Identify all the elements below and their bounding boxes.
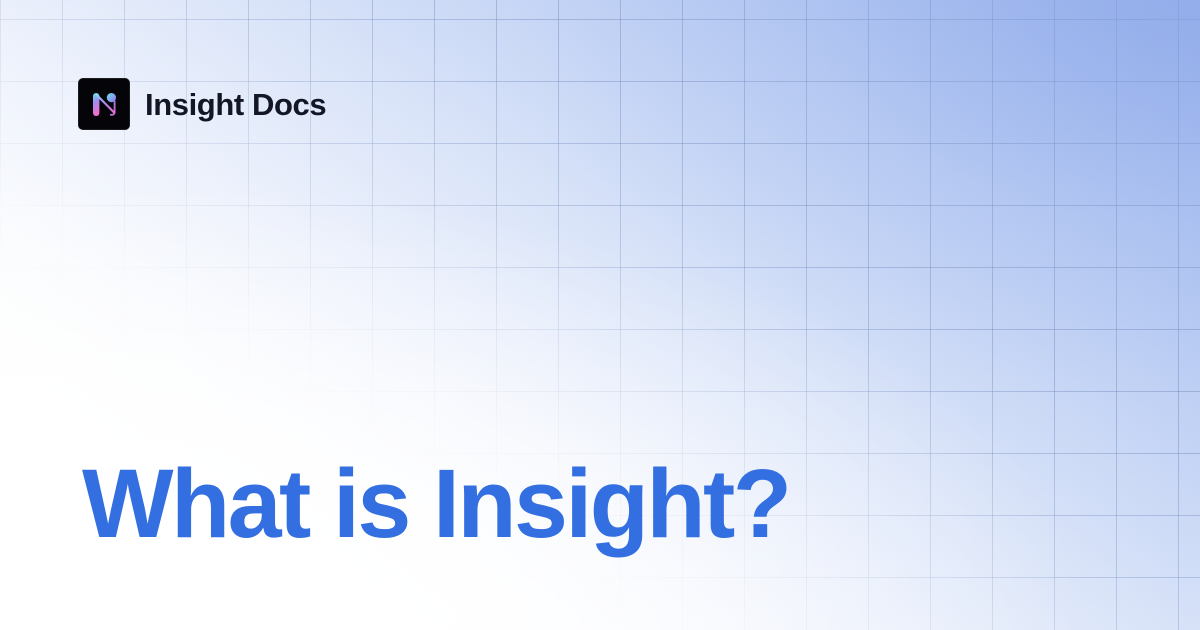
og-banner-card: Insight Docs What is Insight? (0, 0, 1200, 630)
brand-name-label: Insight Docs (145, 89, 326, 120)
insight-logo-mark-icon (79, 79, 129, 129)
brand-lockup: Insight Docs (79, 79, 326, 129)
page-title: What is Insight? (82, 455, 789, 554)
